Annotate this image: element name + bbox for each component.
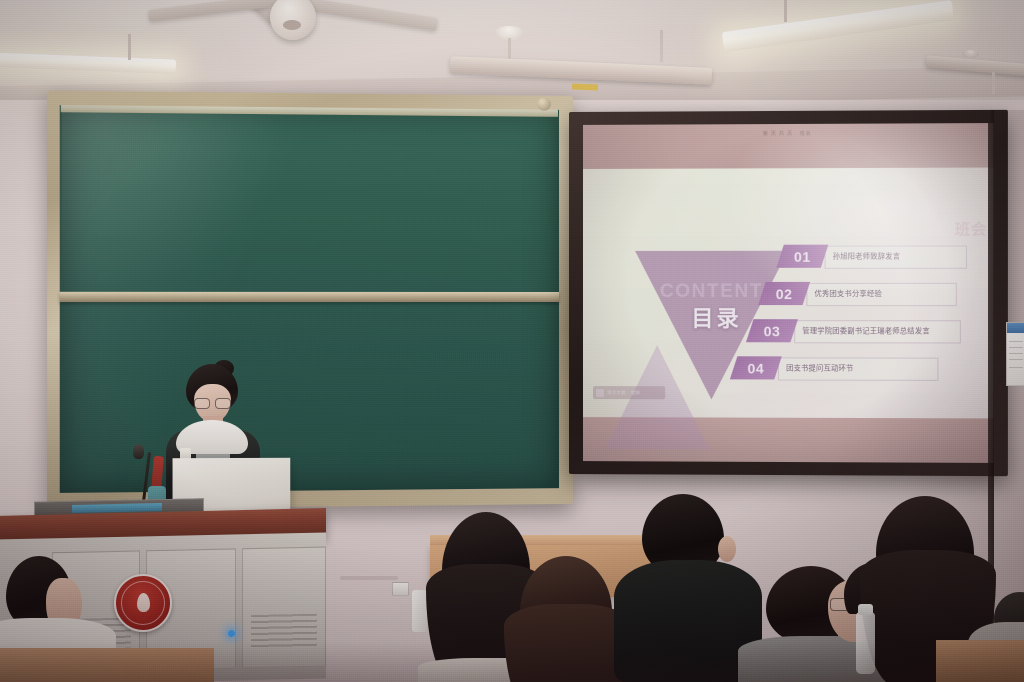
slide-item-03[interactable]: 03 管理学院团委副书记王瑞老师总结发言 — [750, 319, 959, 342]
slide-item-number: 03 — [750, 319, 794, 342]
light-rod — [784, 0, 787, 22]
slide-surface[interactable]: 第 页 共 页 · 班会 CONTENTS 目录 班会 01 孙旭阳老师致辞发言 — [583, 123, 994, 463]
document-icon — [596, 389, 604, 397]
microphone-icon — [133, 444, 144, 459]
notice-header — [1007, 323, 1024, 333]
notice-line — [1009, 347, 1023, 348]
slide-toolbar[interactable]: 演示文稿 · 放映 — [593, 386, 665, 399]
slide-item-04[interactable]: 04 团支书提问互动环节 — [734, 356, 937, 380]
bottle-cap — [858, 604, 873, 615]
slide-item-text: 孙旭阳老师致辞发言 — [833, 245, 901, 268]
light-rod — [128, 34, 131, 60]
slide-toolbar-label: 演示文稿 · 放映 — [607, 390, 640, 396]
chalkboard-middle-rail — [60, 292, 559, 302]
slide-item-02[interactable]: 02 优秀团支书分享经验 — [762, 282, 955, 305]
slide-item-text: 优秀团支书分享经验 — [814, 282, 881, 305]
projection-screen: 第 页 共 页 · 班会 CONTENTS 目录 班会 01 孙旭阳老师致辞发言 — [569, 110, 1008, 476]
smoke-detector-icon — [962, 50, 979, 58]
classroom-scene: 第 页 共 页 · 班会 CONTENTS 目录 班会 01 孙旭阳老师致辞发言 — [0, 0, 1024, 682]
slide-item-01[interactable]: 01 孙旭阳老师致辞发言 — [780, 244, 965, 267]
water-bottle[interactable] — [412, 590, 427, 632]
notice-line — [1009, 367, 1023, 368]
chalkboard — [47, 91, 573, 510]
slide-item-text: 管理学院团委副书记王瑞老师总结发言 — [802, 319, 930, 342]
slide-watermark: 班会 — [955, 218, 988, 239]
notice-line — [1009, 359, 1023, 360]
university-emblem — [114, 574, 172, 632]
light-rod — [992, 72, 995, 94]
slide-item-number: 01 — [780, 245, 825, 268]
tube-label — [572, 83, 598, 90]
notice-line — [1009, 341, 1023, 342]
slide-item-number: 02 — [762, 282, 806, 305]
status-led — [228, 630, 235, 637]
flame-icon — [137, 593, 150, 612]
chalkboard-knob — [537, 98, 551, 111]
student-ear — [718, 536, 736, 562]
slide-body: CONTENTS 目录 班会 01 孙旭阳老师致辞发言 02 优秀团支书分享经验 — [583, 168, 994, 419]
notice-line — [1009, 353, 1023, 354]
glasses-icon — [194, 398, 231, 407]
wall-switch[interactable] — [392, 582, 409, 596]
foreground-shadow — [0, 642, 1024, 682]
wall-notice[interactable] — [1006, 322, 1024, 386]
light-rod — [660, 30, 663, 62]
slide-item-text: 团支书提问互动环节 — [786, 356, 853, 379]
ceiling-fan — [120, 0, 340, 60]
fan-hub — [270, 0, 316, 40]
wall-scuff — [340, 576, 398, 580]
chalkboard-glare — [62, 107, 280, 292]
slide-item-number: 04 — [734, 356, 778, 379]
